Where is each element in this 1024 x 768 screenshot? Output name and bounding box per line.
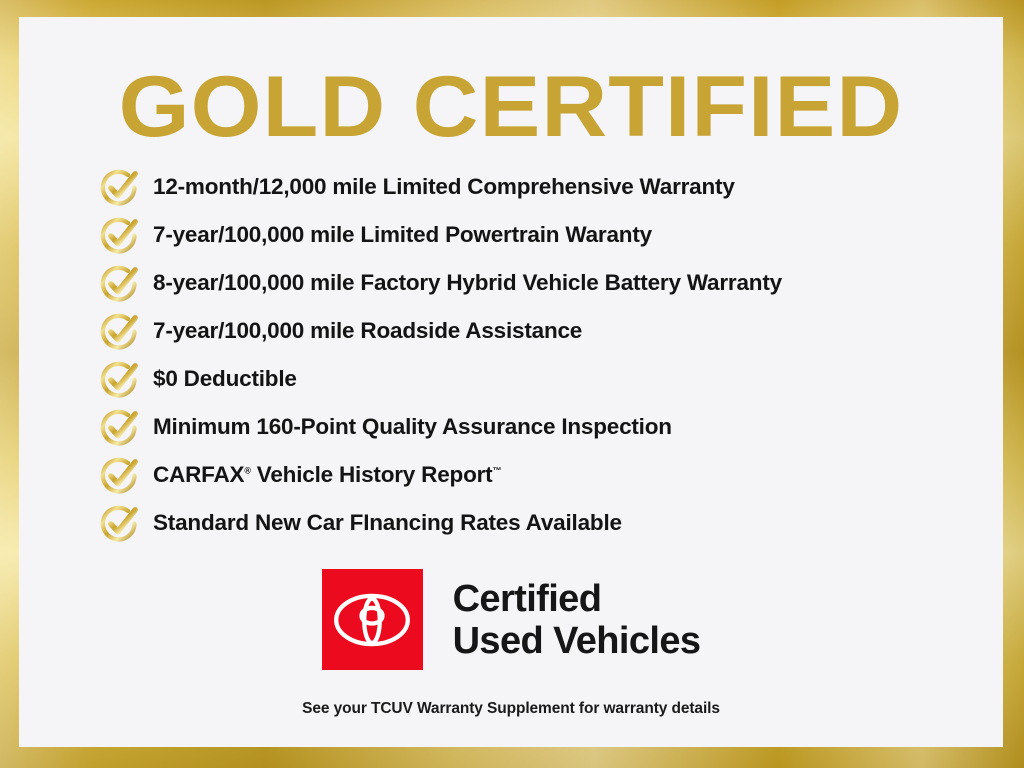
list-item: 12-month/12,000 mile Limited Comprehensi… xyxy=(99,163,999,211)
list-item-label: 12-month/12,000 mile Limited Comprehensi… xyxy=(153,174,735,200)
list-item-label: Minimum 160-Point Quality Assurance Insp… xyxy=(153,414,672,440)
lockup-line-2: Used Vehicles xyxy=(453,620,701,662)
gold-check-circle-icon xyxy=(99,166,141,208)
list-item: Standard New Car FInancing Rates Availab… xyxy=(99,499,999,547)
gold-check-circle-icon xyxy=(99,406,141,448)
warranty-disclaimer: See your TCUV Warranty Supplement for wa… xyxy=(19,700,1003,718)
list-item: 7-year/100,000 mile Limited Powertrain W… xyxy=(99,211,999,259)
gold-border-frame: GOLD CERTIFIED 12-month/12,000 mile Limi… xyxy=(0,0,1024,768)
gold-check-circle-icon xyxy=(99,214,141,256)
page-title: GOLD CERTIFIED xyxy=(0,61,1024,153)
lockup-wordmark: Certified Used Vehicles xyxy=(453,578,701,662)
list-item-label: 8-year/100,000 mile Factory Hybrid Vehic… xyxy=(153,270,782,296)
list-item-label: CARFAX® Vehicle History Report™ xyxy=(153,462,501,488)
list-item-label: $0 Deductible xyxy=(153,366,297,392)
toyota-certified-used-vehicles-lockup: Certified Used Vehicles xyxy=(19,569,1003,670)
list-item: Minimum 160-Point Quality Assurance Insp… xyxy=(99,403,999,451)
gold-check-circle-icon xyxy=(99,454,141,496)
list-item: 8-year/100,000 mile Factory Hybrid Vehic… xyxy=(99,259,999,307)
list-item: CARFAX® Vehicle History Report™ xyxy=(99,451,999,499)
list-item-label: 7-year/100,000 mile Limited Powertrain W… xyxy=(153,222,652,248)
list-item: 7-year/100,000 mile Roadside Assistance xyxy=(99,307,999,355)
certification-card: GOLD CERTIFIED 12-month/12,000 mile Limi… xyxy=(19,17,1003,747)
list-item-label: 7-year/100,000 mile Roadside Assistance xyxy=(153,318,582,344)
list-item: $0 Deductible xyxy=(99,355,999,403)
gold-check-circle-icon xyxy=(99,502,141,544)
gold-check-circle-icon xyxy=(99,262,141,304)
lockup-line-1: Certified xyxy=(453,578,701,620)
list-item-label: Standard New Car FInancing Rates Availab… xyxy=(153,510,622,536)
gold-check-circle-icon xyxy=(99,358,141,400)
gold-check-circle-icon xyxy=(99,310,141,352)
toyota-emblem xyxy=(333,592,411,648)
toyota-emblem-tile xyxy=(322,569,423,670)
feature-list: 12-month/12,000 mile Limited Comprehensi… xyxy=(99,163,999,547)
